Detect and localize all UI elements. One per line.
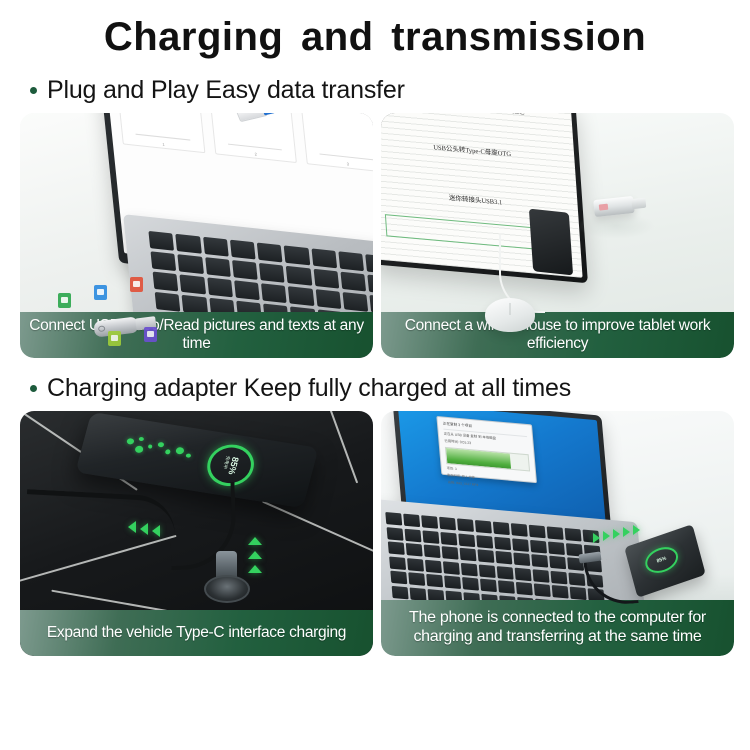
flow-arrow-icon xyxy=(248,537,262,545)
caption-text-1: Connect USB video/Read pictures and text… xyxy=(28,317,365,354)
flow-arrow-icon xyxy=(593,533,600,543)
key xyxy=(385,512,402,526)
section-heading-1: Plug and Play Easy data transfer xyxy=(0,76,750,105)
flow-arrow-icon xyxy=(633,525,640,535)
particle xyxy=(165,449,171,455)
key xyxy=(533,569,550,583)
particle xyxy=(185,453,191,458)
key xyxy=(565,528,582,542)
key xyxy=(257,243,283,263)
key xyxy=(494,536,511,550)
key xyxy=(426,574,443,588)
particle xyxy=(175,447,185,455)
particle xyxy=(148,444,153,449)
key xyxy=(261,283,287,303)
bullet-icon xyxy=(30,385,37,392)
flow-arrow-icon xyxy=(603,531,610,541)
flow-arrow-icon xyxy=(623,527,630,537)
key xyxy=(404,528,421,542)
key xyxy=(205,257,231,277)
key xyxy=(515,567,532,581)
charging-particle-group xyxy=(120,432,200,471)
key xyxy=(150,251,176,271)
key xyxy=(259,263,285,283)
panel-tablet-wired-mouse[interactable]: USB公头转Type-C母座, USB3.1, 一体铝壳OTG工艺 USB公头转… xyxy=(381,113,734,358)
key xyxy=(439,517,456,531)
caption-bar-3: Expand the vehicle Type-C interface char… xyxy=(20,610,373,656)
key xyxy=(475,520,492,534)
caption-bar-1: Connect USB video/Read pictures and text… xyxy=(20,312,373,358)
key xyxy=(512,538,529,552)
battery-percent-label: 85% 充电中 xyxy=(220,455,240,475)
key xyxy=(341,272,367,292)
key xyxy=(153,272,179,292)
page-title: Charging and transmission xyxy=(0,0,750,60)
transfer-progress-fill xyxy=(446,448,511,469)
key xyxy=(343,292,369,312)
key xyxy=(548,541,565,555)
seat-seam xyxy=(312,411,358,483)
product-card: 3 xyxy=(301,113,373,173)
key xyxy=(511,523,528,537)
key xyxy=(529,525,546,539)
card-index: 1 xyxy=(123,137,204,151)
key xyxy=(516,582,533,596)
caption-bar-2: Connect a wired mouse to improve tablet … xyxy=(381,312,734,358)
key xyxy=(403,514,420,528)
car-socket xyxy=(204,575,250,603)
key xyxy=(313,269,339,289)
key xyxy=(410,587,427,601)
section-heading-2-label: Charging adapter Keep fully charged at a… xyxy=(47,374,571,403)
panel-row-1: 1 2 3 xyxy=(0,113,750,358)
flow-arrow-icon xyxy=(152,525,160,537)
key xyxy=(534,583,551,597)
file-type-icon xyxy=(58,293,71,308)
key xyxy=(230,240,256,260)
flow-arrow-icon xyxy=(248,565,262,573)
particle xyxy=(157,442,164,448)
key xyxy=(460,548,477,562)
file-transfer-dialog[interactable]: 正在复制 3 个项目 正在从 USB 设备 复制 到 本地磁盘 已用时间: 0:… xyxy=(436,416,537,483)
key xyxy=(479,564,496,578)
key xyxy=(207,277,233,297)
product-card: 1 xyxy=(116,113,205,153)
key xyxy=(387,527,404,541)
laptop-keyboard xyxy=(385,512,605,606)
key xyxy=(493,522,510,536)
particle xyxy=(126,438,134,445)
key xyxy=(232,260,258,280)
key xyxy=(148,231,174,251)
key xyxy=(368,275,373,295)
key xyxy=(180,274,206,294)
key xyxy=(551,570,568,584)
key xyxy=(421,515,438,529)
section-heading-1-label: Plug and Play Easy data transfer xyxy=(47,76,405,105)
key xyxy=(424,545,441,559)
car-charger-adapter xyxy=(204,551,250,603)
key xyxy=(496,551,513,565)
usb-drive-keyring-icon xyxy=(98,325,106,332)
key xyxy=(176,234,202,254)
flow-arrow-icon xyxy=(128,521,136,533)
usb-adapter-thumb-icon xyxy=(235,113,268,122)
flow-arrow-icon xyxy=(140,523,148,535)
key xyxy=(478,549,495,563)
section-heading-2: Charging adapter Keep fully charged at a… xyxy=(0,374,750,403)
flow-arrow-icon xyxy=(248,551,262,559)
battery-percent-label: 85% xyxy=(656,556,667,565)
key xyxy=(442,546,459,560)
key xyxy=(284,245,310,265)
charging-ring-indicator: 85% xyxy=(642,543,680,577)
panel-laptop-usb-drive[interactable]: 1 2 3 xyxy=(20,113,373,358)
key xyxy=(457,518,474,532)
key xyxy=(514,553,531,567)
key xyxy=(461,562,478,576)
key xyxy=(366,254,373,274)
key xyxy=(547,526,564,540)
panel-laptop-phone-transfer[interactable]: 正在复制 3 个项目 正在从 USB 设备 复制 到 本地磁盘 已用时间: 0:… xyxy=(381,411,734,656)
wired-mouse xyxy=(485,298,535,332)
caption-text-4: The phone is connected to the computer f… xyxy=(409,609,706,647)
product-card-row: 1 2 3 xyxy=(105,113,373,188)
key xyxy=(338,251,364,271)
bullet-icon xyxy=(30,87,37,94)
key xyxy=(407,558,424,572)
key xyxy=(422,530,439,544)
key xyxy=(425,559,442,573)
flow-arrow-icon xyxy=(613,529,620,539)
file-type-icon xyxy=(144,327,157,342)
product-card: 2 xyxy=(209,113,298,163)
key xyxy=(497,566,514,580)
key xyxy=(392,585,409,599)
key xyxy=(570,587,587,601)
key xyxy=(315,289,341,309)
key xyxy=(480,579,497,593)
file-type-icon xyxy=(108,331,121,346)
key xyxy=(408,572,425,586)
key xyxy=(203,237,229,257)
key xyxy=(286,266,312,286)
card-index: 2 xyxy=(215,147,296,161)
seat-seam xyxy=(20,535,177,589)
file-type-icon xyxy=(130,277,143,292)
desk-reflection xyxy=(577,213,655,239)
key xyxy=(443,561,460,575)
key xyxy=(552,585,569,599)
key xyxy=(569,572,586,586)
key xyxy=(530,539,547,553)
key xyxy=(178,254,204,274)
key xyxy=(311,248,337,268)
key xyxy=(155,292,181,312)
key xyxy=(462,577,479,591)
key xyxy=(476,535,493,549)
key xyxy=(288,286,314,306)
particle xyxy=(134,445,144,453)
key xyxy=(406,543,423,557)
caption-bar-4: The phone is connected to the computer f… xyxy=(381,600,734,656)
key xyxy=(388,541,405,555)
caption-text-3: Expand the vehicle Type-C interface char… xyxy=(47,624,346,642)
key xyxy=(234,280,260,300)
key xyxy=(458,533,475,547)
key xyxy=(532,554,549,568)
seat-seam xyxy=(262,501,373,564)
panel-row-2: 85% 充电中 Expand the vehicle Type-C interf… xyxy=(0,411,750,656)
key xyxy=(444,575,461,589)
file-type-icon xyxy=(94,285,107,300)
key xyxy=(440,531,457,545)
particle xyxy=(138,437,144,442)
adapter-port xyxy=(599,204,609,211)
panel-car-charging-phone[interactable]: 85% 充电中 Expand the vehicle Type-C interf… xyxy=(20,411,373,656)
key xyxy=(389,556,406,570)
key xyxy=(498,580,515,594)
key xyxy=(390,571,407,585)
key xyxy=(550,556,567,570)
caption-text-2: Connect a wired mouse to improve tablet … xyxy=(389,317,726,354)
